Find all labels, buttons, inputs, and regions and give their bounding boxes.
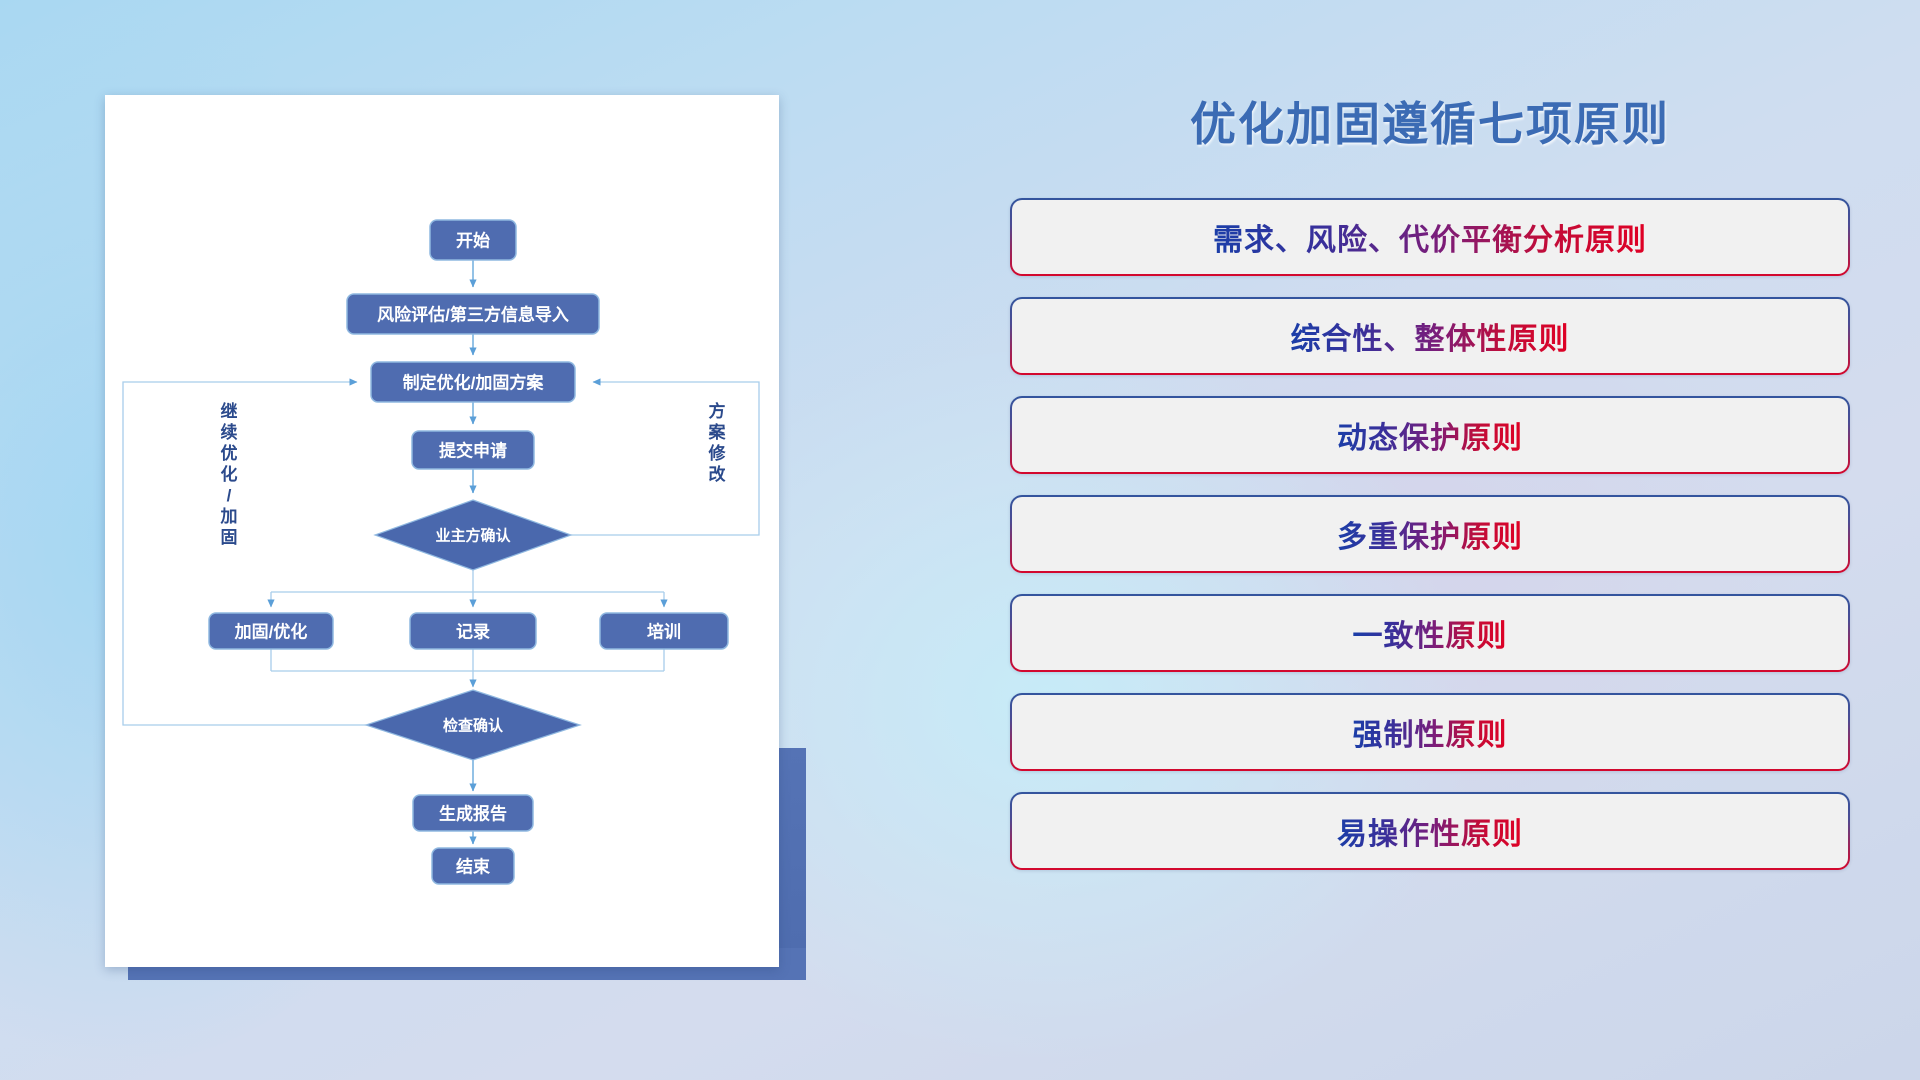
flow-node-reinforce[interactable]: 加固/优化 — [209, 613, 333, 649]
flow-node-ownerok[interactable]: 业主方确认 — [375, 500, 571, 570]
flowchart-card: 开始风险评估/第三方信息导入制定优化/加固方案提交申请业主方确认加固/优化记录培… — [105, 95, 779, 967]
flow-node-label: 生成报告 — [439, 804, 507, 824]
flow-node-submit[interactable]: 提交申请 — [412, 431, 534, 469]
principle-item[interactable]: 易操作性原则 — [1010, 792, 1850, 870]
flow-side-label-char: 方 — [709, 401, 726, 421]
flow-node-label: 风险评估/第三方信息导入 — [377, 305, 569, 325]
flow-side-label-char: 加 — [220, 507, 238, 526]
flow-side-label-char: 优 — [221, 443, 238, 463]
flow-node-label: 提交申请 — [439, 441, 507, 461]
flow-node-label: 加固/优化 — [234, 622, 308, 642]
flow-side-label-char: 继 — [221, 401, 238, 421]
principle-label: 综合性、整体性原则 — [1291, 314, 1570, 358]
flow-side-label-char: 案 — [708, 422, 727, 442]
principle-item[interactable]: 需求、风险、代价平衡分析原则 — [1010, 198, 1850, 276]
flow-side-label-char: 改 — [709, 464, 727, 484]
flowchart-nodes: 开始风险评估/第三方信息导入制定优化/加固方案提交申请业主方确认加固/优化记录培… — [209, 220, 728, 884]
flow-node-check[interactable]: 检查确认 — [366, 690, 580, 760]
flow-side-label-char: 续 — [221, 422, 238, 442]
flow-node-report[interactable]: 生成报告 — [413, 795, 533, 831]
flow-node-label: 检查确认 — [443, 717, 504, 735]
flow-node-plan[interactable]: 制定优化/加固方案 — [371, 362, 575, 402]
flow-side-label-char: 固 — [221, 528, 238, 547]
principle-label: 动态保护原则 — [1337, 413, 1523, 457]
principle-label: 一致性原则 — [1353, 611, 1508, 655]
principle-item[interactable]: 强制性原则 — [1010, 693, 1850, 771]
flow-node-label: 记录 — [456, 623, 490, 642]
principle-label: 需求、风险、代价平衡分析原则 — [1213, 215, 1647, 259]
principles-panel: 优化加固遵循七项原则 需求、风险、代价平衡分析原则综合性、整体性原则动态保护原则… — [1010, 88, 1850, 870]
principle-item[interactable]: 动态保护原则 — [1010, 396, 1850, 474]
flow-node-label: 培训 — [647, 622, 681, 642]
flow-node-label: 制定优化/加固方案 — [403, 373, 545, 393]
flow-node-start[interactable]: 开始 — [430, 220, 516, 260]
slide-canvas: 开始风险评估/第三方信息导入制定优化/加固方案提交申请业主方确认加固/优化记录培… — [0, 0, 1920, 1080]
principle-item[interactable]: 多重保护原则 — [1010, 495, 1850, 573]
flow-side-label-char: / — [227, 486, 232, 505]
flow-node-label: 结束 — [456, 857, 490, 877]
principle-list: 需求、风险、代价平衡分析原则综合性、整体性原则动态保护原则多重保护原则一致性原则… — [1010, 198, 1850, 870]
principle-item[interactable]: 一致性原则 — [1010, 594, 1850, 672]
principle-label: 易操作性原则 — [1337, 809, 1523, 853]
flowchart-diagram: 开始风险评估/第三方信息导入制定优化/加固方案提交申请业主方确认加固/优化记录培… — [105, 95, 779, 967]
flow-node-label: 业主方确认 — [435, 527, 511, 545]
principle-item[interactable]: 综合性、整体性原则 — [1010, 297, 1850, 375]
page-title: 优化加固遵循七项原则 — [1010, 88, 1850, 154]
flow-node-label: 开始 — [456, 231, 490, 251]
principle-label: 强制性原则 — [1353, 710, 1508, 754]
flow-side-label-loop-right: 方案修改 — [708, 401, 727, 484]
flow-side-label-loop-left: 继续优化/加固 — [220, 401, 238, 547]
flow-node-risk[interactable]: 风险评估/第三方信息导入 — [347, 294, 599, 334]
flow-side-label-char: 化 — [221, 464, 238, 484]
principle-label: 多重保护原则 — [1337, 512, 1523, 556]
flow-side-label-char: 修 — [708, 443, 727, 463]
flow-node-training[interactable]: 培训 — [600, 613, 728, 649]
flow-node-end[interactable]: 结束 — [432, 848, 514, 884]
flow-node-record[interactable]: 记录 — [410, 613, 536, 649]
